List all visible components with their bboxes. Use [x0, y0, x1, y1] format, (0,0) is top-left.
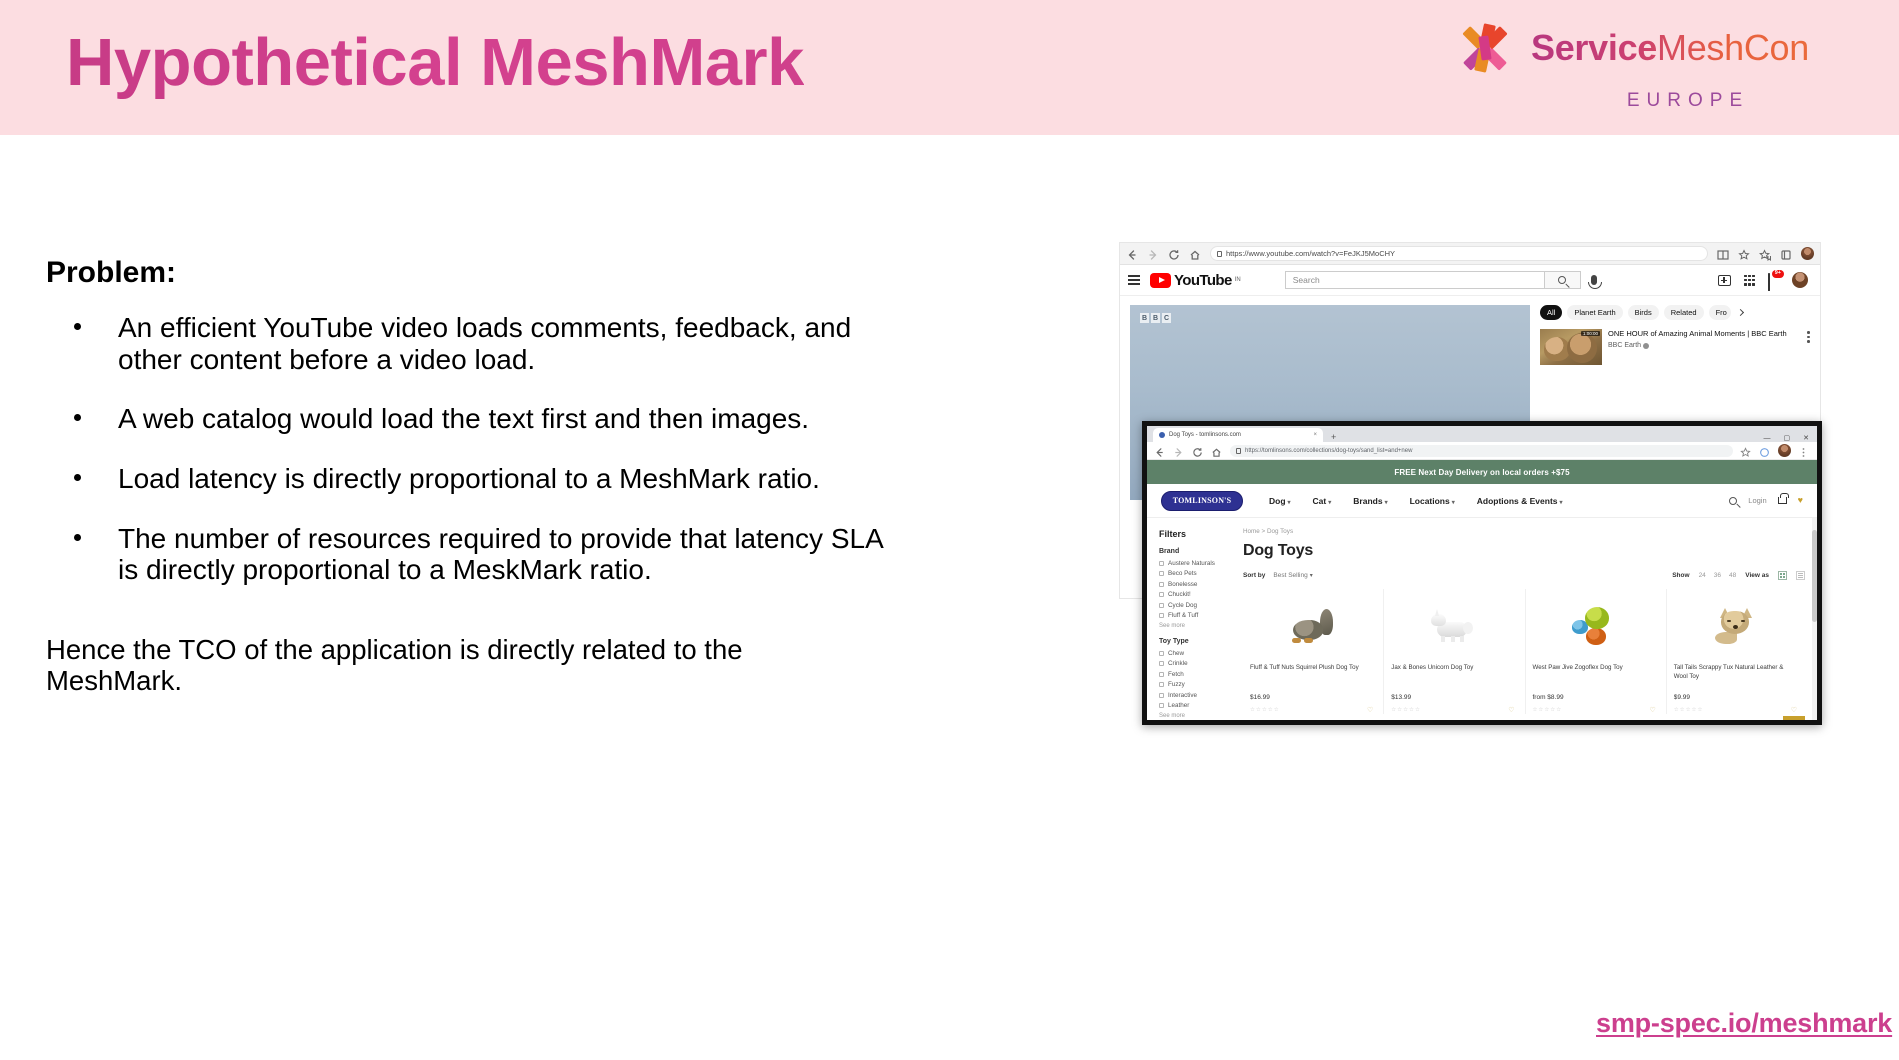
logo-con: Con	[1744, 27, 1809, 68]
wishlist-heart-icon[interactable]: ♡	[1791, 706, 1798, 714]
channel-name: BBC Earth	[1608, 342, 1641, 349]
problem-bullet-list: An efficient YouTube video loads comment…	[46, 312, 886, 586]
lock-icon	[1217, 251, 1222, 257]
product-name: Tall Tails Scrappy Tux Natural Leather &…	[1674, 664, 1798, 689]
profile-avatar[interactable]	[1778, 444, 1791, 457]
servicemeshcon-logo: ServiceMeshCon EUROPE	[1451, 14, 1851, 119]
home-icon[interactable]	[1189, 248, 1201, 260]
logo-wordmark: ServiceMeshCon	[1531, 27, 1809, 69]
filter-group-brand-label: Brand	[1159, 548, 1227, 555]
wishlist-heart-icon[interactable]: ♡	[1508, 706, 1515, 714]
checkbox-icon[interactable]	[1159, 613, 1164, 618]
checkbox-icon[interactable]	[1159, 592, 1164, 597]
sort-and-view-bar: Sort by Best Selling ▾ Show 24 36 48 Vie…	[1243, 571, 1805, 580]
promo-banner: FREE Next Day Delivery on local orders +…	[1147, 460, 1817, 484]
search-input[interactable]: Search	[1285, 271, 1545, 289]
checkbox-icon[interactable]	[1159, 661, 1164, 666]
list-item: An efficient YouTube video loads comment…	[46, 312, 886, 375]
filter-chip-row: All Planet Earth Birds Related Fro	[1540, 305, 1810, 320]
logo-mesh: Mesh	[1657, 27, 1744, 68]
chip-all[interactable]: All	[1540, 305, 1562, 320]
sort-by-select[interactable]: Best Selling	[1273, 572, 1307, 579]
extensions-icon[interactable]	[1759, 445, 1771, 457]
star-rating-icon: ☆☆☆☆☆	[1674, 707, 1704, 713]
product-rating: ☆☆☆☆☆♡	[1391, 706, 1515, 714]
forward-icon[interactable]	[1147, 248, 1159, 260]
filters-sidebar: Filters Brand Austere Naturals Beco Pets…	[1147, 518, 1235, 720]
slide-body-text: Problem: An efficient YouTube video load…	[46, 256, 886, 697]
chrome-tab-strip: Dog Toys - tomlinsons.com × + — ▢ ✕	[1147, 426, 1817, 442]
forward-icon[interactable]	[1173, 445, 1185, 457]
wishlist-heart-icon[interactable]: ♡	[1649, 706, 1656, 714]
checkbox-icon[interactable]	[1159, 693, 1164, 698]
show-option-36[interactable]: 36	[1714, 572, 1721, 579]
nav-item-cat[interactable]: Cat▾	[1313, 496, 1332, 506]
product-image	[1250, 595, 1374, 657]
close-window-icon[interactable]: ✕	[1803, 434, 1809, 442]
checkbox-icon[interactable]	[1159, 651, 1164, 656]
window-controls: — ▢ ✕	[1764, 434, 1818, 442]
close-tab-icon[interactable]: ×	[1313, 432, 1317, 438]
lock-icon	[1236, 448, 1241, 454]
chip-birds[interactable]: Birds	[1628, 305, 1659, 320]
product-name: Jax & Bones Unicorn Dog Toy	[1391, 664, 1515, 689]
show-count-options: 24 36 48	[1699, 572, 1737, 579]
address-bar[interactable]: https://www.youtube.com/watch?v=FeJKJ5Mo…	[1210, 246, 1708, 261]
product-name: Fluff & Tuff Nuts Squirrel Plush Dog Toy	[1250, 664, 1374, 689]
filter-option[interactable]: Cycle Dog	[1159, 602, 1227, 609]
filter-option[interactable]: Fetch	[1159, 671, 1227, 678]
list-item: Load latency is directly proportional to…	[46, 463, 886, 495]
tab-title: Dog Toys - tomlinsons.com	[1169, 432, 1241, 438]
meshmark-spec-link[interactable]: smp-spec.io/meshmark	[1596, 1008, 1892, 1039]
show-label: Show	[1672, 572, 1689, 579]
chevron-right-icon[interactable]	[1737, 309, 1744, 316]
favorites-add-icon[interactable]	[1738, 248, 1750, 260]
star-rating-icon: ☆☆☆☆☆	[1533, 707, 1563, 713]
cart-icon[interactable]	[1778, 497, 1787, 504]
problem-heading: Problem:	[46, 256, 886, 290]
new-tab-icon[interactable]: +	[1331, 433, 1336, 442]
grid-view-icon[interactable]	[1778, 571, 1787, 580]
chevron-down-icon[interactable]: ▾	[1310, 572, 1313, 579]
reload-icon[interactable]	[1168, 248, 1180, 260]
url-text: https://tomlinsons.com/collections/dog-t…	[1245, 448, 1412, 454]
chrome-toolbar: https://tomlinsons.com/collections/dog-t…	[1147, 442, 1817, 460]
product-card[interactable]: Fluff & Tuff Nuts Squirrel Plush Dog Toy…	[1243, 589, 1381, 714]
edge-toolbar: https://www.youtube.com/watch?v=FeJKJ5Mo…	[1120, 243, 1820, 265]
tomlinsons-browser-window: Dog Toys - tomlinsons.com × + — ▢ ✕	[1142, 421, 1822, 725]
product-price: $16.99	[1250, 694, 1374, 701]
scrollbar-track[interactable]	[1812, 518, 1817, 720]
product-rating: ☆☆☆☆☆♡	[1250, 706, 1374, 714]
logo-service: Service	[1531, 27, 1657, 68]
product-price: $13.99	[1391, 694, 1515, 701]
bullet-dot-icon	[74, 323, 81, 330]
filter-option[interactable]: Austere Naturals	[1159, 560, 1227, 567]
scrollbar-thumb[interactable]	[1812, 530, 1817, 622]
see-more-toytype-link[interactable]: See more	[1159, 713, 1227, 719]
zogoflex-balls-icon	[1572, 607, 1618, 645]
checkbox-icon[interactable]	[1159, 672, 1164, 677]
bullet-text: An efficient YouTube video loads comment…	[118, 312, 851, 375]
filter-option[interactable]: Chuckit!	[1159, 591, 1227, 598]
catalog-main: Filters Brand Austere Naturals Beco Pets…	[1147, 518, 1817, 720]
bbc-letter-c: C	[1162, 313, 1171, 323]
youtube-masthead: YouTube IN Search 9+	[1120, 265, 1820, 296]
chip-planet-earth[interactable]: Planet Earth	[1567, 305, 1622, 320]
servicemeshcon-diamond-icon	[1451, 14, 1519, 82]
filter-option[interactable]: Chew	[1159, 650, 1227, 657]
star-rating-icon: ☆☆☆☆☆	[1391, 707, 1421, 713]
list-item[interactable]: 1:00:00 ONE HOUR of Amazing Animal Momen…	[1540, 329, 1810, 365]
category-heading: Dog Toys	[1243, 542, 1805, 560]
product-image	[1391, 595, 1515, 657]
site-nav: Dog▾ Cat▾ Brands▾ Locations▾ Adoptions &…	[1269, 496, 1563, 506]
bullet-text: The number of resources required to prov…	[118, 523, 882, 586]
home-icon[interactable]	[1211, 445, 1223, 457]
filter-option[interactable]: Beco Pets	[1159, 570, 1227, 577]
logo-region-label: EUROPE	[1525, 90, 1851, 112]
bookmark-star-icon[interactable]	[1740, 445, 1752, 457]
nav-item-dog[interactable]: Dog▾	[1269, 496, 1291, 506]
url-text: https://www.youtube.com/watch?v=FeJKJ5Mo…	[1226, 249, 1395, 258]
catalog-content: Home > Dog Toys Dog Toys Sort by Best Se…	[1235, 518, 1817, 720]
filter-option[interactable]: Interactive	[1159, 692, 1227, 699]
filter-option[interactable]: Bonelesse	[1159, 581, 1227, 588]
product-card[interactable]: Tall Tails Scrappy Tux Natural Leather &…	[1666, 589, 1805, 714]
verified-badge-icon	[1643, 343, 1649, 349]
video-meta: ONE HOUR of Amazing Animal Moments | BBC…	[1608, 329, 1801, 365]
product-image	[1674, 595, 1798, 657]
checkbox-icon[interactable]	[1159, 561, 1164, 566]
search-button[interactable]	[1545, 271, 1581, 289]
video-channel: BBC Earth	[1608, 342, 1801, 349]
youtube-logo[interactable]: YouTube IN	[1150, 272, 1241, 289]
search-icon	[1558, 276, 1566, 284]
filter-option[interactable]: Fluff & Tuff	[1159, 612, 1227, 619]
youtube-wordmark: YouTube	[1174, 272, 1232, 289]
more-options-icon[interactable]	[1807, 329, 1810, 365]
youtube-avatar[interactable]	[1792, 272, 1808, 288]
reload-icon[interactable]	[1192, 445, 1204, 457]
bullet-text: A web catalog would load the text first …	[118, 403, 809, 434]
list-item: A web catalog would load the text first …	[46, 403, 886, 435]
tomlinsons-logo[interactable]: TOMLINSON'S	[1161, 491, 1243, 511]
filter-option[interactable]: Fuzzy	[1159, 681, 1227, 688]
product-card[interactable]: Jax & Bones Unicorn Dog Toy $13.99 ☆☆☆☆☆…	[1383, 589, 1522, 714]
bbc-letter-b1: B	[1140, 313, 1149, 323]
search-icon[interactable]	[1729, 497, 1737, 505]
view-as-label: View as	[1745, 572, 1769, 579]
bullet-dot-icon	[74, 414, 81, 421]
list-item: The number of resources required to prov…	[46, 523, 886, 586]
bbc-letter-b2: B	[1151, 313, 1160, 323]
notification-count-badge: 9+	[1772, 270, 1784, 278]
site-favicon-icon	[1159, 432, 1165, 438]
address-bar[interactable]: https://tomlinsons.com/collections/dog-t…	[1230, 445, 1733, 457]
filter-group-toytype-label: Toy Type	[1159, 638, 1227, 645]
notifications-bell-icon[interactable]: 9+	[1768, 274, 1779, 286]
checkbox-icon[interactable]	[1159, 582, 1164, 587]
browser-tab[interactable]: Dog Toys - tomlinsons.com ×	[1153, 428, 1323, 442]
bullet-dot-icon	[74, 474, 81, 481]
chrome-menu-icon[interactable]	[1798, 445, 1810, 457]
back-icon[interactable]	[1154, 445, 1166, 457]
floating-wishlist-button[interactable]: ♥	[1783, 716, 1805, 720]
list-view-icon[interactable]	[1796, 571, 1805, 580]
collections-icon[interactable]	[1780, 248, 1792, 260]
maximize-icon[interactable]: ▢	[1784, 434, 1791, 442]
checkbox-icon[interactable]	[1159, 682, 1164, 687]
product-rating: ☆☆☆☆☆♡	[1533, 706, 1657, 714]
header-actions: Login ♥	[1729, 496, 1803, 505]
chip-from[interactable]: Fro	[1709, 305, 1731, 320]
product-name: West Paw Jive Zogoflex Dog Toy	[1533, 664, 1657, 689]
profile-avatar[interactable]	[1801, 247, 1814, 260]
browser-screenshot-composite: https://www.youtube.com/watch?v=FeJKJ5Mo…	[1120, 243, 1820, 743]
bullet-dot-icon	[74, 534, 81, 541]
bullet-text: Load latency is directly proportional to…	[118, 463, 820, 494]
site-header: TOMLINSON'S Dog▾ Cat▾ Brands▾ Locations▾…	[1147, 484, 1817, 518]
youtube-play-icon	[1150, 273, 1171, 288]
checkbox-icon[interactable]	[1159, 603, 1164, 608]
youtube-account-actions: 9+	[1718, 272, 1812, 288]
filter-option[interactable]: Leather	[1159, 702, 1227, 709]
video-duration: 1:00:00	[1581, 331, 1600, 336]
checkbox-icon[interactable]	[1159, 703, 1164, 708]
product-grid: Fluff & Tuff Nuts Squirrel Plush Dog Toy…	[1243, 589, 1805, 714]
voice-search-icon[interactable]	[1591, 275, 1597, 285]
back-icon[interactable]	[1126, 248, 1138, 260]
product-price: from $8.99	[1533, 694, 1657, 701]
split-screen-icon[interactable]	[1717, 248, 1729, 260]
login-link[interactable]: Login	[1748, 496, 1766, 505]
nav-item-locations[interactable]: Locations▾	[1410, 496, 1455, 506]
hamburger-menu-icon[interactable]	[1128, 275, 1140, 285]
wishlist-heart-icon[interactable]: ♡	[1367, 706, 1374, 714]
product-rating: ☆☆☆☆☆♡	[1674, 706, 1798, 714]
video-thumbnail: 1:00:00	[1540, 329, 1602, 365]
youtube-apps-icon[interactable]	[1744, 275, 1755, 286]
nav-item-brands[interactable]: Brands▾	[1353, 496, 1387, 506]
sort-by-label: Sort by	[1243, 572, 1265, 579]
product-card[interactable]: West Paw Jive Zogoflex Dog Toy from $8.9…	[1525, 589, 1664, 714]
nav-item-adoptions-events[interactable]: Adoptions & Events▾	[1477, 496, 1563, 506]
closing-statement: Hence the TCO of the application is dire…	[46, 634, 886, 697]
favorites-icon[interactable]	[1759, 248, 1771, 260]
see-more-brand-link[interactable]: See more	[1159, 623, 1227, 629]
edge-toolbar-actions	[1717, 247, 1814, 260]
minimize-icon[interactable]: —	[1764, 435, 1771, 442]
show-option-24[interactable]: 24	[1699, 572, 1706, 579]
filter-option[interactable]: Crinkle	[1159, 660, 1227, 667]
product-image	[1533, 595, 1657, 657]
chip-related[interactable]: Related	[1664, 305, 1704, 320]
breadcrumb: Home > Dog Toys	[1243, 528, 1805, 535]
search-placeholder: Search	[1293, 275, 1320, 285]
fox-plush-icon	[1714, 608, 1758, 644]
checkbox-icon[interactable]	[1159, 571, 1164, 576]
product-price: $9.99	[1674, 694, 1798, 701]
video-title: ONE HOUR of Amazing Animal Moments | BBC…	[1608, 329, 1801, 339]
unicorn-plush-icon	[1429, 610, 1477, 642]
squirrel-plush-icon	[1289, 609, 1335, 643]
filters-title: Filters	[1159, 529, 1227, 539]
create-video-icon[interactable]	[1718, 275, 1731, 286]
wishlist-heart-icon[interactable]: ♥	[1798, 496, 1803, 505]
page-title: Hypothetical MeshMark	[66, 24, 804, 101]
bbc-watermark-icon: B B C	[1140, 313, 1171, 323]
star-rating-icon: ☆☆☆☆☆	[1250, 707, 1280, 713]
show-option-48[interactable]: 48	[1729, 572, 1736, 579]
youtube-country-code: IN	[1235, 277, 1241, 283]
